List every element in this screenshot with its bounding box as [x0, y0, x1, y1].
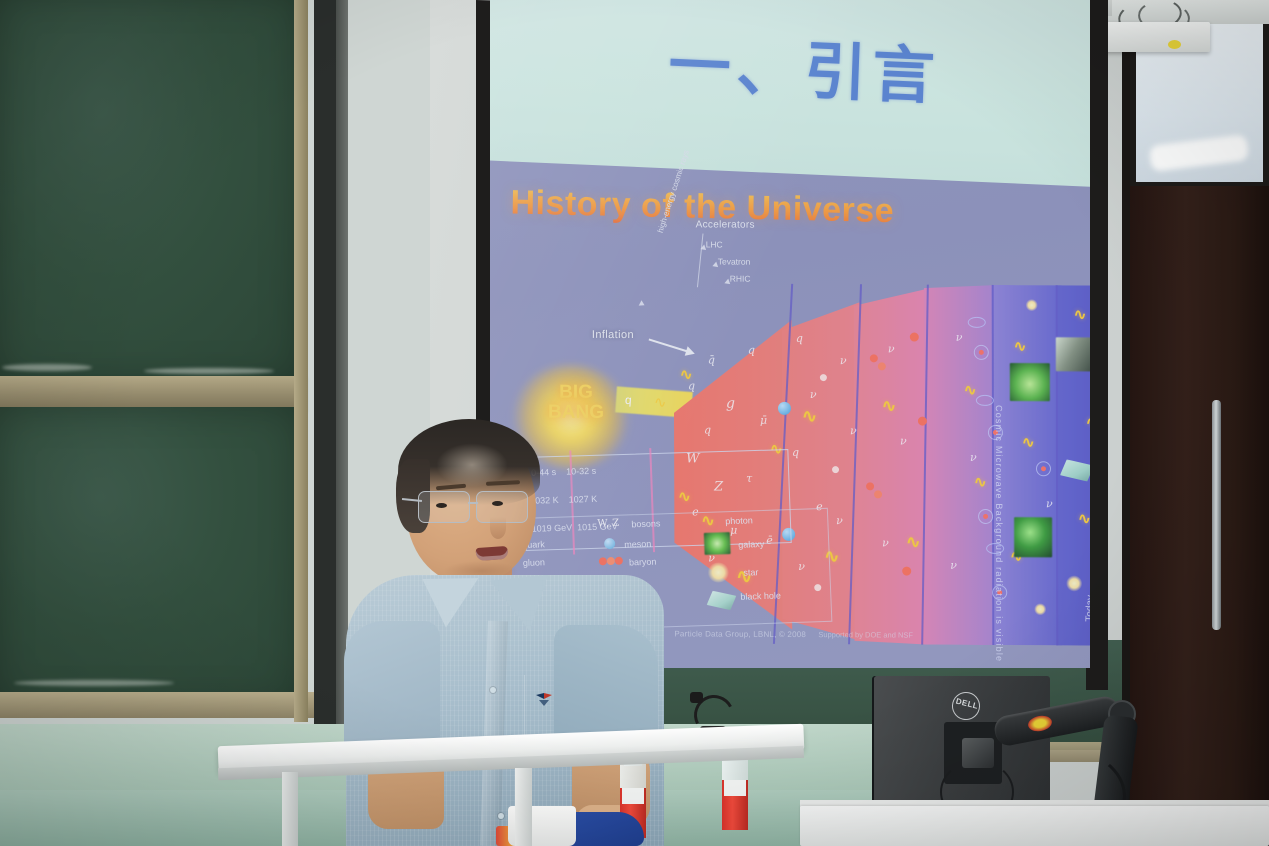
legend-black-hole: black hole [740, 591, 776, 602]
yellow-sticker-dot [1168, 40, 1181, 49]
photon-icon: ∿ [974, 473, 987, 491]
photon-icon: ∿ [964, 381, 977, 399]
ion-icon [866, 482, 874, 490]
inflation-label: Inflation [592, 329, 634, 341]
quark-glyph: q [792, 446, 799, 459]
star-icon [1034, 603, 1046, 615]
neutrino-glyph: ν [850, 424, 857, 437]
photon-icon: ∿ [1086, 413, 1090, 431]
photon-wave-icon: ∿ [653, 393, 667, 412]
cmb-era-label: Cosmic Microwave Background radiation is… [994, 405, 1004, 662]
shirt-logo [536, 693, 552, 706]
neutrino-glyph: ν [888, 342, 895, 355]
nucleosynthesis-band [854, 284, 931, 644]
chalkboard-panel-upper [0, 0, 299, 382]
cosmic-rays-callout: high-energy cosmic rays [616, 229, 672, 309]
galaxy-photo-inset [1010, 363, 1050, 401]
accelerator-rhic: RHIC [730, 274, 751, 284]
photon-icon: ∿ [680, 365, 693, 383]
neutrino-glyph: ν [970, 451, 977, 464]
figure-credit-support: Supported by DOE and NSF [818, 630, 913, 639]
shirt-button [490, 687, 496, 693]
galaxy-icon [704, 532, 731, 555]
neutrino-glyph: ν [1046, 497, 1053, 510]
photon-icon: ∿ [1078, 509, 1090, 527]
shirt-button [498, 813, 504, 819]
galaxy-photo-inset [1014, 517, 1052, 557]
chalkboard [0, 0, 314, 692]
neutrino-glyph: ν [836, 514, 843, 527]
galaxy-icon [976, 395, 994, 406]
atom-icon [974, 345, 989, 360]
ion-icon [870, 354, 878, 362]
muon-glyph: μ̄ [760, 414, 767, 427]
ion-icon [902, 567, 911, 576]
black-hole-icon [706, 590, 737, 611]
chalkboard-rail [0, 376, 306, 410]
neutrino-glyph: ν [840, 354, 847, 367]
bottle-label-white-band [622, 788, 644, 804]
accelerator-tevatron: Tevatron [718, 256, 751, 266]
big-bang-label: BIGBANG [526, 383, 626, 424]
chalk-dust [14, 680, 174, 686]
baryon-icon [832, 466, 839, 473]
quark-glyph: q [704, 423, 711, 436]
accelerators-title: Accelerators [696, 219, 755, 230]
today-label: Today [1084, 595, 1090, 622]
ion-icon [918, 417, 927, 426]
photon-icon: ∿ [1074, 305, 1087, 323]
meson-icon [778, 402, 791, 415]
glasses [402, 491, 540, 523]
podium-leg [515, 768, 532, 846]
star-icon [1066, 575, 1082, 591]
door-handle[interactable] [1212, 400, 1221, 630]
photon-icon: ∿ [701, 511, 715, 531]
wall-shadow-gap [314, 0, 336, 750]
photon-icon: ∿ [1022, 433, 1035, 451]
ion-icon [878, 362, 886, 370]
microphone-head[interactable] [690, 692, 703, 703]
galaxy-icon [968, 317, 986, 328]
star-icon [1026, 299, 1038, 311]
nose [490, 517, 506, 539]
galaxy-photo-inset [1056, 337, 1090, 371]
photon-icon: ∿ [882, 396, 896, 416]
photon-icon: ∿ [906, 533, 920, 553]
star-icon [707, 562, 730, 583]
podium-leg [282, 772, 298, 846]
quark-glyph: q [748, 344, 755, 357]
door[interactable] [1130, 186, 1269, 846]
photon-icon: ∿ [802, 406, 817, 427]
photon-icon: ∿ [1014, 337, 1027, 355]
neutrino-glyph: ν [810, 388, 817, 401]
neutrino-glyph: ν [900, 434, 907, 447]
legend-galaxy: galaxy [738, 539, 764, 550]
legend-photon: photon [725, 515, 753, 526]
neutrino-glyph: ν [956, 331, 963, 344]
atom-icon [978, 509, 993, 524]
glasses-bridge [468, 502, 478, 504]
bottle-label-white-band [724, 780, 746, 796]
chalk-dust [144, 368, 274, 374]
neutrino-glyph: ν [950, 559, 957, 572]
eye-left [436, 503, 447, 508]
chalkboard-frame-right [294, 0, 308, 722]
neutrino-glyph: ν [882, 536, 889, 549]
quark-glyph: q [796, 332, 803, 345]
legend-star: star [743, 567, 758, 577]
figure-credit: Particle Data Group, LBNL, © 2008 [674, 629, 806, 639]
gluon-glyph: g [726, 396, 735, 412]
callout-arrow-icon [639, 300, 646, 308]
eye-right [492, 501, 503, 506]
baryon-icon [820, 374, 827, 381]
chalkboard-panel-lower [0, 407, 299, 707]
dell-logo-text: DELL [955, 697, 979, 711]
callout-line [697, 234, 704, 288]
chalk-dust [2, 364, 92, 371]
quark-glyph: q [625, 393, 633, 407]
lecture-hall-photo: 一、引言 History of the Universe BIGBANG Inf… [0, 0, 1269, 846]
accelerator-lhc: LHC [706, 239, 723, 249]
chalkboard-tray [0, 692, 324, 718]
ion-icon [874, 490, 882, 498]
atom-icon [1036, 461, 1051, 476]
desk-surface[interactable] [800, 806, 1269, 846]
quark-glyph: q̄ [708, 353, 715, 366]
ion-icon [910, 333, 919, 342]
